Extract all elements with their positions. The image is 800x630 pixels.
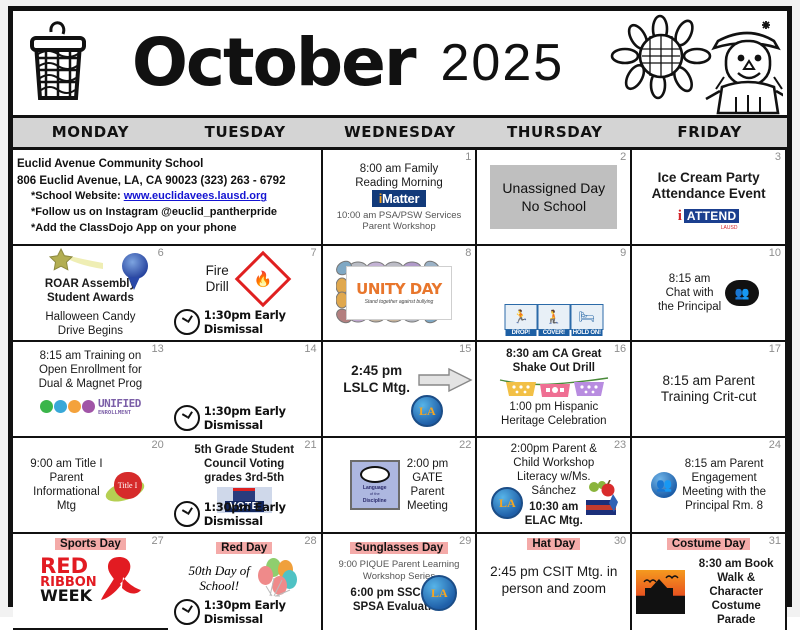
theme-day-badge: Red Day bbox=[216, 542, 272, 554]
day-content: Fire Drill 🔥 1:30pm Early Dismissal bbox=[172, 249, 317, 337]
day-text-block: 2:00 pm GATE Parent Meeting bbox=[407, 457, 449, 513]
event-line: ROAR Assembly bbox=[45, 277, 136, 291]
day-text-block: Red Day 50th Day of School! bbox=[172, 537, 317, 598]
school-instagram: *Follow us on Instagram @euclid_pantherp… bbox=[17, 205, 277, 221]
event-line: Fire bbox=[206, 263, 229, 279]
event-line: Shake Out Drill bbox=[513, 361, 595, 375]
event-line: Chat with bbox=[658, 286, 721, 300]
day-content: 1:30pm Early Dismissal bbox=[172, 345, 317, 433]
day-cell-1[interactable]: 1 8:00 am Family Reading Morning iMatter… bbox=[323, 150, 478, 246]
unity-day-graphic: UNITY DAY Stand together against bullyin… bbox=[346, 266, 452, 320]
day-cell-9[interactable]: 9 🏃DROP! 🧎COVER! 🛏HOLD ON! bbox=[477, 246, 632, 342]
day-number: 3 bbox=[775, 151, 781, 163]
drop-label: DROP! bbox=[505, 330, 536, 336]
event-line: grades 3rd-5th bbox=[172, 471, 317, 485]
books-apple-icon bbox=[582, 480, 620, 521]
event-line: Dual & Magnet Prog bbox=[39, 377, 143, 391]
early-dismissal-label: 1:30pm Early Dismissal bbox=[204, 404, 313, 432]
event-line: 2:45 pm bbox=[335, 363, 419, 379]
arrow-right-icon bbox=[417, 367, 475, 393]
day-cell-8[interactable]: 8 bbox=[323, 246, 478, 342]
event-line: 5th Grade Student bbox=[172, 443, 317, 457]
attend-i: i bbox=[678, 208, 682, 225]
red-ribbon-line: WEEK bbox=[40, 589, 97, 604]
event-subline: 1:00 pm Hispanic bbox=[509, 400, 598, 414]
clock-icon bbox=[174, 501, 200, 527]
balloons-icon bbox=[254, 558, 300, 598]
drop-cover-hold-icon-group: 🏃DROP! 🧎COVER! 🛏HOLD ON! bbox=[505, 304, 602, 336]
day-cell-21[interactable]: 21 5th Grade Student Council Voting grad… bbox=[168, 438, 323, 534]
day-content: Red Day 50th Day of School! bbox=[172, 537, 317, 627]
day-cell-20[interactable]: 20 9:00 am Title I Parent Informational … bbox=[13, 438, 168, 534]
day-number: 13 bbox=[152, 343, 164, 355]
awareness-ribbon-icon bbox=[99, 555, 141, 605]
theme-day-badge: Hat Day bbox=[527, 538, 580, 550]
imatter-word: Matter bbox=[382, 191, 419, 206]
day-text-block: 9:00 am Title I Parent Informational Mtg bbox=[30, 457, 102, 513]
day-content: 👥 8:15 am Parent Engagement Meeting with… bbox=[636, 441, 781, 529]
day-cell-31[interactable]: 31 Costume Day 8:30 am Book Walk & Chara… bbox=[632, 534, 787, 630]
clock-icon bbox=[174, 405, 200, 431]
event-line: 8:30 am CA Great bbox=[506, 347, 601, 361]
no-school-line: No School bbox=[502, 197, 605, 215]
school-info-block: Euclid Avenue Community School 806 Eucli… bbox=[17, 153, 317, 244]
event-line: Drill bbox=[206, 279, 229, 295]
event-line: Walk & Character bbox=[691, 571, 781, 599]
event-line: 2:45 pm CSIT Mtg. in bbox=[490, 564, 617, 580]
weekday-monday: MONDAY bbox=[13, 118, 168, 147]
event-line: School! bbox=[189, 578, 250, 594]
day-content: 9:00 am Title I Parent Informational Mtg… bbox=[17, 441, 164, 529]
day-content: 8:15 am Training on Open Enrollment for … bbox=[17, 345, 164, 437]
calendar-banner: October 2025 bbox=[13, 11, 787, 118]
day-content: 5th Grade Student Council Voting grades … bbox=[172, 441, 317, 529]
day-number: 17 bbox=[769, 343, 781, 355]
theme-day-badge: Sports Day bbox=[55, 538, 126, 550]
day-cell-23[interactable]: 23 2:00pm Parent & Child Workshop Litera… bbox=[477, 438, 632, 534]
cover-icon: 🧎COVER! bbox=[538, 304, 569, 336]
day-content: Sunglasses Day 9:00 PIQUE Parent Learnin… bbox=[327, 537, 472, 627]
theme-day-badge: Costume Day bbox=[667, 538, 751, 550]
event-subline: Heritage Celebration bbox=[501, 414, 606, 428]
shooting-star-icon bbox=[41, 247, 131, 273]
day-number: 31 bbox=[769, 535, 781, 547]
calendar-page: October 2025 bbox=[0, 0, 800, 617]
event-line: LSLC Mtg. bbox=[335, 380, 419, 396]
early-dismissal-label: 1:30pm Early Dismissal bbox=[204, 308, 313, 336]
hold-on-label: HOLD ON! bbox=[571, 330, 602, 336]
event-line: Student Awards bbox=[47, 291, 134, 305]
day-cell-30[interactable]: 30 Hat Day 2:45 pm CSIT Mtg. in person a… bbox=[477, 534, 632, 630]
early-dismissal-label: 1:30pm Early Dismissal bbox=[204, 598, 313, 626]
day-number: 2 bbox=[620, 151, 626, 163]
unity-title: UNITY DAY bbox=[356, 282, 442, 297]
event-subline: Halloween Candy bbox=[45, 310, 135, 324]
event-subline: 9:00 PIQUE Parent Learning bbox=[327, 559, 472, 570]
lausd-seal-text: LA bbox=[499, 496, 516, 511]
event-line: Open Enrollment for bbox=[39, 363, 142, 377]
clock-icon bbox=[174, 599, 200, 625]
day-number: 16 bbox=[614, 343, 626, 355]
day-cell-17[interactable]: 17 8:15 am Parent Training Crit-cut bbox=[632, 342, 787, 438]
halloween-basket-icon bbox=[13, 20, 103, 106]
day-cell-15[interactable]: 15 2:45 pm LSLC Mtg. LA bbox=[323, 342, 478, 438]
event-line: 8:15 am Parent bbox=[662, 373, 754, 389]
event-line: Training Crit-cut bbox=[661, 389, 757, 405]
event-subline: Parent Workshop bbox=[362, 221, 435, 232]
event-subline: 10:00 am PSA/PSW Services bbox=[337, 210, 462, 221]
event-line: Parent bbox=[407, 485, 449, 499]
day-content: ROAR Assembly Student Awards Halloween C… bbox=[17, 249, 164, 337]
event-line: 8:00 am Family bbox=[360, 162, 439, 176]
day-text-block: 8:15 am Chat with the Principal bbox=[658, 272, 721, 314]
event-line: Meeting bbox=[407, 499, 449, 513]
fire-hazard-icon: 🔥 bbox=[235, 251, 292, 308]
event-line: Costume Parade bbox=[691, 599, 781, 627]
event-line: 2:00pm Parent & bbox=[481, 442, 626, 456]
title-one-label: Title I bbox=[118, 481, 138, 490]
day-cell-24[interactable]: 24 👥 8:15 am Parent Engagement Meeting w… bbox=[632, 438, 787, 534]
day-cell-14[interactable]: 14 1:30pm Early Dismissal bbox=[168, 342, 323, 438]
day-content: 🏃DROP! 🧎COVER! 🛏HOLD ON! bbox=[481, 249, 626, 337]
unified-dot-icon bbox=[68, 400, 81, 413]
lausd-seal-text: LA bbox=[419, 404, 436, 419]
day-content: 2:45 pm LSLC Mtg. LA bbox=[327, 345, 472, 433]
day-number: 30 bbox=[614, 535, 626, 547]
day-text-block: 2:45 pm LSLC Mtg. bbox=[335, 363, 419, 396]
early-dismissal-strip: 1:30pm Early Dismissal bbox=[172, 500, 317, 528]
calendar-grid: Euclid Avenue Community School 806 Eucli… bbox=[13, 150, 787, 630]
cover-label: COVER! bbox=[538, 330, 569, 336]
day-content: 8:30 am CA Great Shake Out Drill 1:00 pm… bbox=[481, 345, 626, 435]
day-cell-29[interactable]: 29 Sunglasses Day 9:00 PIQUE Parent Lear… bbox=[323, 534, 478, 630]
award-rosette-icon bbox=[122, 253, 148, 279]
day-content: Ice Cream Party Attendance Event i ATTEN… bbox=[636, 153, 781, 241]
day-number: 8 bbox=[465, 247, 471, 259]
event-line: Informational bbox=[30, 485, 102, 499]
red-ribbon-week-logo: RED RIBBON WEEK bbox=[40, 555, 141, 605]
day-content: 8:15 am Chat with the Principal 👥 bbox=[636, 249, 781, 337]
event-line: 8:30 am Book bbox=[691, 557, 781, 571]
event-line: the Principal bbox=[658, 300, 721, 314]
weekday-header-row: MONDAY TUESDAY WEDNESDAY THURSDAY FRIDAY bbox=[13, 118, 787, 150]
day-cell-22[interactable]: 22 Language of the Discipline 2:00 pm GA… bbox=[323, 438, 478, 534]
weekday-wednesday: WEDNESDAY bbox=[323, 118, 478, 147]
unified-word: UNIFIED bbox=[98, 397, 141, 410]
event-line: 2:00 pm bbox=[407, 457, 449, 471]
event-line: 8:15 am Parent bbox=[682, 457, 766, 471]
day-number: 27 bbox=[152, 535, 164, 547]
early-dismissal-strip: 1:30pm Early Dismissal bbox=[172, 598, 317, 626]
school-classdojo: *Add the ClassDojo App on your phone bbox=[17, 221, 237, 237]
theme-day-badge: Sunglasses Day bbox=[350, 542, 448, 554]
day-cell-27[interactable]: 27 Sports Day RED RIBBON WEEK bbox=[13, 534, 168, 630]
gate-caption: Discipline bbox=[363, 498, 387, 504]
day-cell-3[interactable]: 3 Ice Cream Party Attendance Event i ATT… bbox=[632, 150, 787, 246]
day-content: Sports Day RED RIBBON WEEK bbox=[17, 537, 164, 626]
day-cell-10[interactable]: 10 8:15 am Chat with the Principal 👥 bbox=[632, 246, 787, 342]
event-line: Parent bbox=[30, 471, 102, 485]
language-of-discipline-icon: Language of the Discipline bbox=[350, 460, 400, 510]
unified-dot-icon bbox=[82, 400, 95, 413]
day-cell-2[interactable]: 2 Unassigned Day No School bbox=[477, 150, 632, 246]
day-content: 8:15 am Parent Training Crit-cut bbox=[636, 345, 781, 433]
day-number: 22 bbox=[459, 439, 471, 451]
weekday-tuesday: TUESDAY bbox=[168, 118, 323, 147]
school-address: 806 Euclid Avenue, LA, CA 90023 (323) 26… bbox=[17, 173, 285, 190]
day-content: Hat Day 2:45 pm CSIT Mtg. in person and … bbox=[481, 537, 626, 628]
people-group-icon: 👥 bbox=[651, 472, 677, 498]
event-line: 9:00 am Title I bbox=[30, 457, 102, 471]
attend-logo: i ATTEND LAUSD bbox=[678, 208, 740, 225]
day-content: UNITY DAY Stand together against bullyin… bbox=[327, 249, 472, 337]
gate-caption: of the bbox=[370, 491, 380, 496]
month-title: October bbox=[132, 30, 415, 96]
day-content: Language of the Discipline 2:00 pm GATE … bbox=[327, 441, 472, 529]
haunted-house-icon bbox=[636, 570, 685, 614]
event-line: 8:15 am Training on bbox=[40, 349, 142, 363]
event-line: Attendance Event bbox=[652, 186, 766, 202]
weekday-thursday: THURSDAY bbox=[477, 118, 632, 147]
imatter-logo: iMatter bbox=[372, 190, 427, 207]
day-number: 10 bbox=[769, 247, 781, 259]
day-content: 2:00pm Parent & Child Workshop Literacy … bbox=[481, 441, 626, 529]
red-ribbon-line: RED bbox=[40, 557, 97, 576]
event-line: Reading Morning bbox=[355, 176, 443, 190]
school-website-line: *School Website: www.euclidavees.lausd.o… bbox=[17, 189, 267, 205]
unified-dot-icon bbox=[40, 400, 53, 413]
day-content: Costume Day 8:30 am Book Walk & Characte… bbox=[636, 537, 781, 628]
day-number: 24 bbox=[769, 439, 781, 451]
title-one-apple-icon: Title I bbox=[105, 468, 151, 502]
event-line: Meeting with the bbox=[682, 485, 766, 499]
day-cell-6[interactable]: 6 ROAR Assembly Student Awards Halloween… bbox=[13, 246, 168, 342]
school-name: Euclid Avenue Community School bbox=[17, 156, 203, 173]
day-cell-13[interactable]: 13 8:15 am Training on Open Enrollment f… bbox=[13, 342, 168, 438]
weekday-friday: FRIDAY bbox=[632, 118, 787, 147]
unity-subtitle: Stand together against bullying bbox=[365, 299, 434, 305]
day-cell-28[interactable]: 28 Red Day 50th Day of School! bbox=[168, 534, 323, 630]
day-number: 20 bbox=[152, 439, 164, 451]
no-school-line: Unassigned Day bbox=[502, 179, 605, 197]
school-website-label: *School Website: bbox=[31, 190, 124, 202]
event-subline: Drive Begins bbox=[58, 324, 123, 338]
day-cell-16[interactable]: 16 8:30 am CA Great Shake Out Drill 1:00… bbox=[477, 342, 632, 438]
attend-word: ATTEND bbox=[684, 209, 740, 223]
event-line: person and zoom bbox=[502, 581, 606, 597]
early-dismissal-label: 1:30pm Early Dismissal bbox=[204, 500, 313, 528]
event-line: 8:15 am bbox=[658, 272, 721, 286]
event-line: Principal Rm. 8 bbox=[682, 499, 766, 513]
scarecrow-sunflower-icon bbox=[593, 11, 787, 115]
drop-icon: 🏃DROP! bbox=[505, 304, 536, 336]
day-number: 1 bbox=[465, 151, 471, 163]
early-dismissal-strip: 1:30pm Early Dismissal bbox=[172, 308, 317, 336]
school-info-cell: Euclid Avenue Community School 806 Eucli… bbox=[13, 150, 323, 246]
event-line: Council Voting bbox=[172, 457, 317, 471]
hold-on-icon: 🛏HOLD ON! bbox=[571, 304, 602, 336]
year-title: 2025 bbox=[441, 37, 565, 89]
attend-sublabel: LAUSD bbox=[721, 225, 738, 231]
lausd-seal-text: LA bbox=[431, 586, 448, 601]
event-line: Engagement bbox=[682, 471, 766, 485]
event-line: 50th Day of bbox=[189, 563, 250, 579]
event-line: Mtg bbox=[30, 499, 102, 513]
event-line: GATE bbox=[407, 471, 449, 485]
lausd-seal-icon: LA bbox=[411, 395, 443, 427]
day-text-block: Fire Drill bbox=[206, 263, 229, 296]
early-dismissal-strip: 1:30pm Early Dismissal bbox=[172, 404, 317, 432]
event-line: Ice Cream Party bbox=[658, 170, 760, 186]
day-cell-7[interactable]: 7 Fire Drill 🔥 1:30pm Early Dismissal bbox=[168, 246, 323, 342]
day-content: 8:00 am Family Reading Morning iMatter 1… bbox=[327, 153, 472, 241]
papel-picado-icon bbox=[498, 377, 610, 399]
school-website-link[interactable]: www.euclidavees.lausd.org bbox=[124, 190, 267, 202]
enrollment-word: ENROLLMENT bbox=[98, 410, 141, 416]
speech-bubble-icon: 👥 bbox=[725, 280, 759, 306]
day-content: Unassigned Day No School bbox=[481, 153, 626, 241]
day-text-block: 8:15 am Parent Engagement Meeting with t… bbox=[682, 457, 766, 513]
event-line: Child Workshop bbox=[481, 456, 626, 470]
calendar-container: October 2025 bbox=[8, 6, 792, 607]
unified-dot-icon bbox=[54, 400, 67, 413]
banner-title-group: October 2025 bbox=[103, 30, 593, 96]
clock-icon bbox=[174, 309, 200, 335]
no-school-badge: Unassigned Day No School bbox=[490, 165, 617, 229]
unified-enrollment-logo: UNIFIED ENROLLMENT bbox=[40, 397, 141, 416]
